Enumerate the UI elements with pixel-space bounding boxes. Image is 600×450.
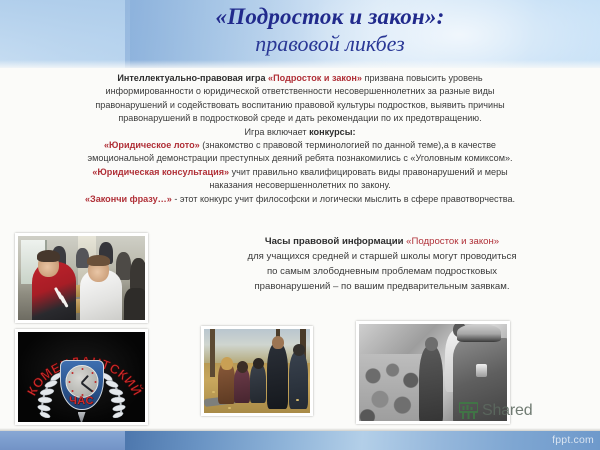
contest-1-continuation: эмоциональной демонстрации преступных де… xyxy=(18,152,582,165)
clock-tick xyxy=(91,372,93,374)
intro-lead-red: «Подросток и закон» xyxy=(268,73,362,83)
header-bottom-fade xyxy=(0,60,600,68)
fppt-watermark-text: fppt.com xyxy=(552,434,594,446)
footer-left-block xyxy=(0,431,125,450)
clock-icon xyxy=(65,365,98,398)
intro-line-3: правонарушений и содействовать воспитани… xyxy=(18,99,582,112)
classroom-boy-red-hair xyxy=(37,250,60,262)
police-badge-icon xyxy=(476,364,487,377)
intro-lead-rest: призвана повысить уровень xyxy=(365,73,483,83)
contest-1-text: (знакомство с правовой терминологией по … xyxy=(202,140,496,150)
page-title: «Подросток и закон»: правовой ликбез xyxy=(130,4,530,58)
teen-head xyxy=(221,357,233,370)
contest-1-line: «Юридическое лото» (знакомство с правово… xyxy=(18,139,582,152)
fallen-leaf xyxy=(296,399,299,401)
title-line-1: «Подросток и закон»: xyxy=(130,4,530,30)
clock-tick xyxy=(71,390,73,392)
teen-head xyxy=(253,358,264,369)
autumn-street-photo xyxy=(201,326,313,416)
contest-2-line: «Юридическая консультация» учит правильн… xyxy=(18,166,582,179)
classroom-background-person xyxy=(124,288,148,323)
info-text-block: Часы правовой информации «Подросток и за… xyxy=(178,234,586,294)
emblem-bottom-text: ЧАС xyxy=(69,395,94,407)
intro-line-2: информированности о юридической ответств… xyxy=(18,85,582,98)
info-title-red: «Подросток и закон» xyxy=(406,236,499,247)
slide-footer: fppt.com xyxy=(0,431,600,450)
intro-line-4: правонарушений в подростковой среде и да… xyxy=(18,112,582,125)
info-title-line: Часы правовой информации «Подросток и за… xyxy=(178,234,586,249)
slide: «Подросток и закон»: правовой ликбез Инт… xyxy=(0,0,600,450)
contest-2-text: учит правильно квалифицировать виды прав… xyxy=(232,167,508,177)
classroom-boy-white-hair xyxy=(87,255,110,266)
header-left-shade xyxy=(0,0,130,68)
footer-main-block xyxy=(125,431,600,450)
intro-line-1: Интеллектуально-правовая игра «Подросток… xyxy=(18,72,582,85)
fallen-leaf xyxy=(228,407,231,409)
contest-3-text: - этот конкурс учит философски и логичес… xyxy=(174,194,515,204)
fallen-leaf xyxy=(212,391,215,393)
clock-tick xyxy=(81,368,83,370)
teen-figure xyxy=(250,363,266,403)
contest-2-continuation: наказания несовершеннолетних по закону. xyxy=(18,179,582,192)
emblem-photo: КОМЕНДАНТСКИЙ xyxy=(15,329,148,425)
contest-2-name: «Юридическая консультация» xyxy=(92,167,229,177)
title-line-2: правовой ликбез xyxy=(130,31,530,57)
myshared-watermark-text: Shared xyxy=(482,402,532,420)
clock-tick xyxy=(68,381,70,383)
myshared-logo-icon xyxy=(459,402,478,420)
fallen-leaf xyxy=(259,413,262,415)
teen-head xyxy=(237,361,248,373)
classroom-photo xyxy=(15,233,148,323)
teen-head xyxy=(293,344,305,356)
contest-3-name: «Закончи фразу…» xyxy=(85,194,172,204)
tree-trunk xyxy=(210,329,215,377)
contests-lead-bold: конкурсы: xyxy=(309,127,355,137)
contest-1-name: «Юридическое лото» xyxy=(104,140,200,150)
intro-text-block: Интеллектуально-правовая игра «Подросток… xyxy=(18,72,582,206)
info-line-2: для учащихся средней и старшей школы мог… xyxy=(178,249,586,264)
teen-figure xyxy=(267,343,288,409)
clock-minute-hand xyxy=(81,382,93,392)
bw-standing-person-head xyxy=(425,337,438,351)
contest-3-line: «Закончи фразу…» - этот конкурс учит фил… xyxy=(18,193,582,206)
clock-tick xyxy=(94,381,96,383)
bw-standing-person xyxy=(419,346,443,424)
info-title-plain: Часы правовой информации xyxy=(265,236,404,247)
intro-line-5: Игра включает конкурсы: xyxy=(18,126,582,139)
classroom-background-person xyxy=(130,258,147,292)
info-line-3: по самым злободневным проблемам подростк… xyxy=(178,264,586,279)
intro-lead-bold: Интеллектуально-правовая игра xyxy=(117,73,265,83)
clock-tick xyxy=(71,372,73,374)
info-line-4: правонарушений – по вашим предварительны… xyxy=(178,279,586,294)
police-cap-icon xyxy=(457,324,501,342)
myshared-watermark: Shared xyxy=(459,402,532,420)
slide-header: «Подросток и закон»: правовой ликбез xyxy=(0,0,600,68)
contests-lead: Игра включает xyxy=(245,127,307,137)
teen-head xyxy=(272,336,284,349)
